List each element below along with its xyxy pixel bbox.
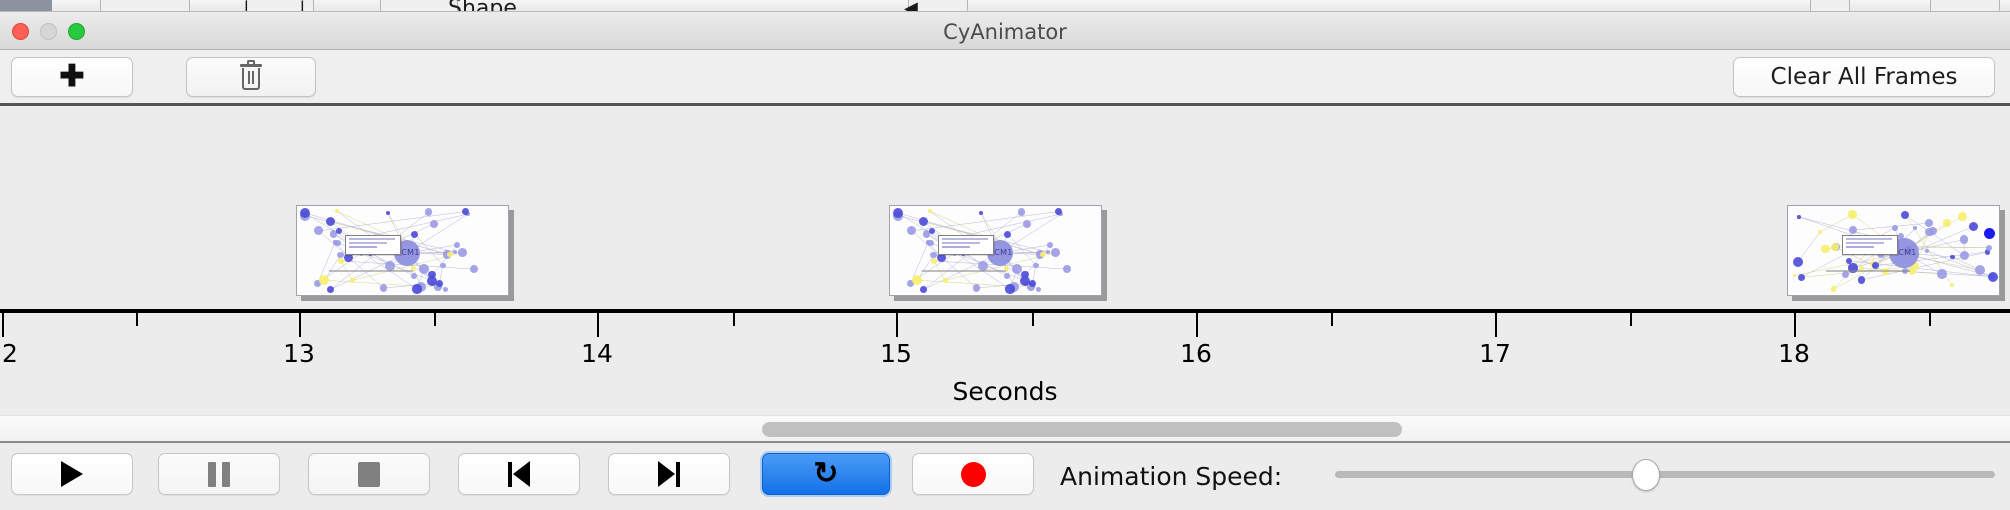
- network-node: [300, 208, 310, 218]
- network-node: [1943, 219, 1952, 228]
- network-tooltip: [345, 235, 401, 255]
- axis-tick-label: 15: [880, 339, 912, 368]
- network-node: [1925, 228, 1934, 237]
- loop-icon: ↻: [813, 459, 838, 489]
- network-tooltip: [1842, 235, 1898, 255]
- background-window-label: Shape: [448, 0, 517, 12]
- network-node: [1793, 274, 1796, 277]
- horizontal-scrollbar[interactable]: [0, 415, 2010, 443]
- network-node: [430, 220, 438, 228]
- playback-controls: ↻ Animation Speed:: [0, 445, 2010, 510]
- network-node: [929, 228, 935, 234]
- network-graph: MCM1: [297, 206, 508, 295]
- network-node: [1858, 276, 1865, 283]
- network-node: [337, 252, 344, 259]
- frame-image: MCM1: [889, 205, 1102, 296]
- animation-speed-slider[interactable]: [1335, 459, 1995, 491]
- axis-tick-minor: [1630, 313, 1632, 326]
- network-node: [1047, 242, 1053, 248]
- axis-line: [0, 309, 2010, 313]
- pause-button: [158, 453, 280, 495]
- network-node: [1005, 284, 1014, 293]
- network-node: [447, 252, 452, 257]
- network-node: [1986, 245, 1992, 251]
- axis-tick-major: [1495, 313, 1497, 337]
- axis-tick-minor: [1929, 313, 1931, 326]
- axis-tick-minor: [1331, 313, 1333, 326]
- network-node: [1821, 245, 1829, 253]
- network-node: [1798, 274, 1806, 282]
- network-node: [1018, 208, 1026, 216]
- stop-button: [308, 453, 430, 495]
- network-node: [1831, 243, 1839, 251]
- axis-tick-minor: [1032, 313, 1034, 326]
- clear-all-frames-button[interactable]: Clear All Frames: [1733, 57, 1995, 97]
- network-node: [973, 284, 980, 291]
- network-node: [1960, 235, 1968, 243]
- network-node: [1051, 248, 1060, 257]
- animation-speed-label: Animation Speed:: [1060, 462, 1282, 491]
- network-graph: MCM1: [1788, 206, 1999, 295]
- delete-frame-button[interactable]: [186, 57, 316, 97]
- network-node: [440, 263, 446, 269]
- axis-tick-major: [1794, 313, 1796, 337]
- skip-forward-icon: [658, 461, 680, 487]
- network-node: [931, 258, 937, 264]
- background-window-tile: [380, 0, 458, 12]
- network-node: [1937, 269, 1947, 279]
- scrollbar-thumb[interactable]: [762, 422, 1402, 437]
- network-node: [350, 278, 355, 283]
- network-caption: [329, 270, 413, 272]
- network-node: [454, 242, 460, 248]
- timeline-track[interactable]: MCM1MCM1MCM1: [0, 109, 2010, 307]
- timeline-axis: 12131415161718 Seconds: [0, 307, 2010, 405]
- axis-tick-major: [1196, 313, 1198, 337]
- network-node: [386, 211, 390, 215]
- network-node: [1848, 210, 1856, 218]
- axis-tick-minor: [136, 313, 138, 326]
- network-node: [1958, 212, 1967, 221]
- network-node: [380, 284, 387, 291]
- background-window-tile: [1930, 0, 2000, 12]
- network-graph: MCM1: [890, 206, 1101, 295]
- network-node: [1925, 219, 1933, 227]
- add-frame-button[interactable]: ✚: [11, 57, 133, 97]
- frame-image: MCM1: [1787, 205, 2000, 296]
- axis-tick-label: 18: [1778, 339, 1810, 368]
- skip-back-button[interactable]: [458, 453, 580, 495]
- toolbar: ✚ Clear All Frames: [0, 50, 2010, 106]
- axis-tick-major: [896, 313, 898, 337]
- record-button[interactable]: [912, 453, 1034, 495]
- network-node: [1892, 225, 1898, 231]
- skip-forward-button[interactable]: [608, 453, 730, 495]
- slider-track[interactable]: [1335, 471, 1995, 478]
- axis-tick-label: 13: [283, 339, 315, 368]
- network-caption: [1826, 270, 1910, 272]
- axis-tick-major: [299, 313, 301, 337]
- axis-tick-major: [2, 313, 4, 337]
- network-node: [930, 252, 937, 259]
- network-node: [327, 286, 334, 293]
- network-caption: [922, 270, 1006, 272]
- background-window-tile: [1810, 0, 1850, 12]
- axis-tick-minor: [434, 313, 436, 326]
- network-node: [336, 228, 342, 234]
- network-node: [458, 248, 467, 257]
- slider-thumb[interactable]: [1632, 459, 1660, 491]
- axis-tick-label: 17: [1479, 339, 1511, 368]
- play-button[interactable]: [11, 453, 133, 495]
- axis-tick-minor: [733, 313, 735, 326]
- stop-icon: [358, 462, 380, 487]
- title-bar: CyAnimator: [0, 12, 2010, 50]
- frame-thumbnail[interactable]: MCM1: [296, 205, 514, 301]
- frame-thumbnail[interactable]: MCM1: [889, 205, 1107, 301]
- background-window-corner: [0, 0, 52, 12]
- background-window-tile: [100, 0, 190, 12]
- window-title: CyAnimator: [0, 20, 2010, 44]
- trash-icon: [240, 64, 262, 90]
- network-node: [943, 278, 948, 283]
- frame-image: MCM1: [296, 205, 509, 296]
- network-node: [1023, 220, 1031, 228]
- axis-tick-label: 16: [1180, 339, 1212, 368]
- network-node: [338, 258, 344, 264]
- network-node: [979, 211, 983, 215]
- axis-title: Seconds: [0, 377, 2010, 406]
- network-node: [920, 286, 927, 293]
- axis-tick-label: 12: [0, 339, 18, 368]
- network-node: [1040, 252, 1045, 257]
- network-node: [1969, 222, 1978, 231]
- network-node: [1872, 262, 1879, 269]
- network-node: [1846, 258, 1852, 264]
- network-node: [1797, 215, 1801, 219]
- axis-tick-major: [597, 313, 599, 337]
- network-node: [1033, 263, 1039, 269]
- network-node: [425, 208, 433, 216]
- network-node: [1988, 272, 1998, 282]
- clear-all-frames-label: Clear All Frames: [1771, 64, 1958, 90]
- record-icon: [961, 462, 986, 487]
- network-node: [1984, 228, 1995, 239]
- network-node: [893, 208, 903, 218]
- pause-icon: [208, 462, 230, 487]
- network-tooltip: [938, 235, 994, 255]
- background-window: | | ◀ Shape: [0, 0, 2010, 12]
- plus-icon: ✚: [59, 62, 84, 92]
- play-icon: [61, 461, 83, 487]
- network-node: [412, 284, 421, 293]
- loop-button[interactable]: ↻: [762, 453, 890, 495]
- skip-back-icon: [508, 461, 530, 487]
- frame-thumbnail[interactable]: MCM1: [1787, 205, 2005, 301]
- axis-tick-label: 14: [581, 339, 613, 368]
